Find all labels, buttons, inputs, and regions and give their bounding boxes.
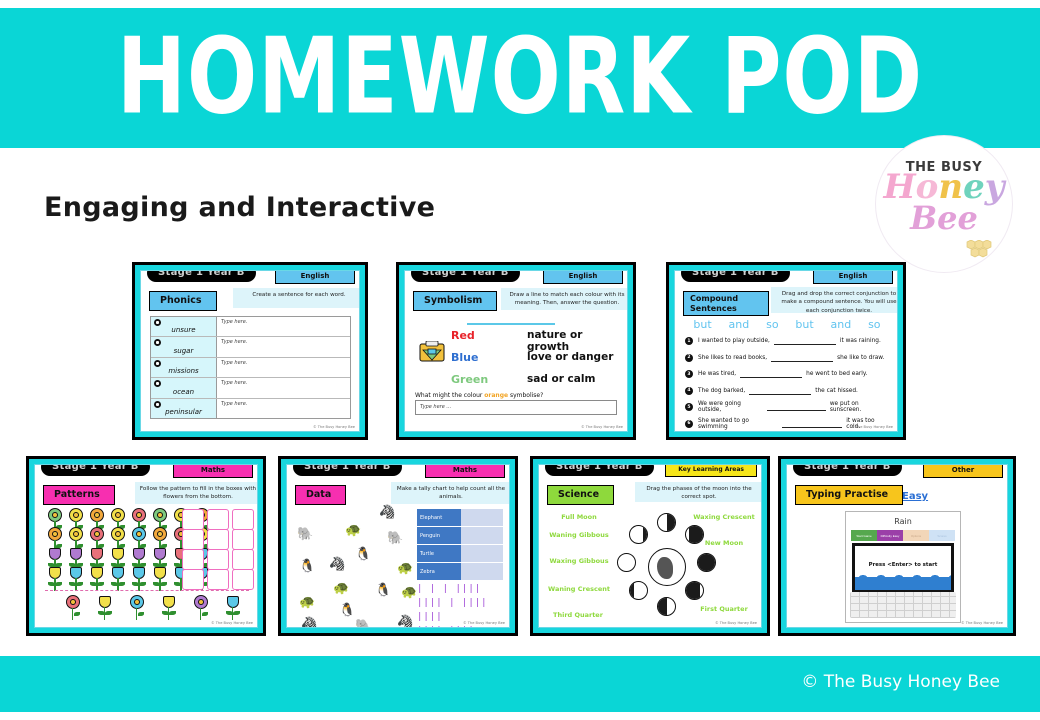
turtle-icon: 🐢 bbox=[345, 523, 361, 536]
speaker-icon[interactable] bbox=[154, 360, 161, 367]
sentence-post: it was raining. bbox=[840, 338, 881, 344]
elephant-icon: 🐘 bbox=[297, 527, 313, 540]
table-row[interactable]: Penguin bbox=[417, 527, 503, 545]
worksheet-card-data[interactable]: Stage 1 Year B Maths Data Make a tally c… bbox=[278, 456, 518, 636]
logo-word-bee: Bee bbox=[876, 202, 1012, 234]
topic-badge-patterns: Patterns bbox=[43, 485, 115, 505]
stage-badge: Stage 1 Year B bbox=[793, 464, 902, 476]
moon-label-third-quarter[interactable]: Third Quarter bbox=[541, 611, 615, 619]
divider bbox=[45, 590, 249, 592]
worksheet-card-phonics[interactable]: Stage 1 Year B English Phonics Create a … bbox=[132, 262, 368, 440]
tab-scores[interactable]: Scores bbox=[929, 530, 955, 541]
instruction-text: Drag the phases of the moon into the cor… bbox=[635, 482, 762, 502]
sentence-pre: The dog barked, bbox=[698, 388, 745, 394]
table-row[interactable]: Elephant bbox=[417, 509, 503, 527]
water-graphic bbox=[855, 577, 951, 590]
book-icon bbox=[419, 341, 445, 363]
moon-slot[interactable] bbox=[657, 597, 676, 616]
tulip-icon[interactable] bbox=[87, 566, 107, 592]
match-line[interactable] bbox=[467, 323, 555, 325]
tab-options[interactable]: Options bbox=[903, 530, 929, 541]
sentence-pre: He was tired, bbox=[698, 371, 736, 377]
drop-blank[interactable] bbox=[740, 370, 802, 378]
drop-box[interactable] bbox=[182, 529, 204, 550]
worksheet-card-typing-practise[interactable]: Stage 1 Year B Other Typing Practise Rai… bbox=[778, 456, 1016, 636]
drop-blank[interactable] bbox=[749, 387, 811, 395]
moon-label-waning-crescent[interactable]: Waning Crescent bbox=[547, 585, 611, 593]
flower-bank bbox=[57, 593, 249, 623]
sentence-post: she like to draw. bbox=[837, 355, 884, 361]
answer-box-row bbox=[182, 549, 254, 569]
item-number: 6 bbox=[685, 420, 693, 428]
zebra-icon: 🦓 bbox=[301, 617, 317, 628]
question-highlight: orange bbox=[484, 392, 508, 399]
credit-text: © The Busy Honey Bee bbox=[313, 425, 355, 429]
elephant-icon: 🐘 bbox=[355, 619, 371, 628]
question-pre: What might the colour bbox=[415, 392, 484, 399]
drop-box[interactable] bbox=[182, 509, 204, 530]
stage-badge: Stage 1 Year B bbox=[147, 270, 256, 282]
drop-box[interactable] bbox=[232, 529, 254, 550]
drop-box[interactable] bbox=[232, 549, 254, 570]
turtle-icon: 🐢 bbox=[333, 581, 349, 594]
footer-copyright: © The Busy Honey Bee bbox=[801, 672, 1000, 692]
placeholder-text: Type here. bbox=[221, 319, 247, 325]
worksheet-card-symbolism[interactable]: Stage 1 Year B English Symbolism Draw a … bbox=[396, 262, 636, 440]
sentence-pre: She wanted to go swimming bbox=[698, 418, 778, 430]
instruction-text: Make a tally chart to help count all the… bbox=[391, 482, 510, 504]
word-cell[interactable]: ocean bbox=[151, 378, 217, 397]
answer-input[interactable]: Type here. bbox=[217, 317, 350, 336]
card-inner: Stage 1 Year B English Symbolism Draw a … bbox=[404, 270, 628, 432]
drop-box[interactable] bbox=[232, 509, 254, 530]
turtle-icon: 🐢 bbox=[397, 561, 413, 574]
sentence-post: we put on sunscreen. bbox=[830, 401, 889, 413]
drop-box[interactable] bbox=[207, 509, 229, 530]
conjunction-bank: but and so but and so bbox=[685, 317, 889, 331]
sentence-pre: We were going outside, bbox=[698, 401, 763, 413]
drop-box[interactable] bbox=[182, 569, 204, 590]
instruction-text: Follow the pattern to fill in the boxes … bbox=[135, 482, 258, 504]
colour-match-area: Red Blue Green nature or growth love or … bbox=[415, 319, 619, 389]
tally-input-cell[interactable] bbox=[461, 527, 503, 545]
drop-box[interactable] bbox=[232, 569, 254, 590]
page-title: HOMEWORK POD bbox=[21, 22, 1019, 132]
flower-icon[interactable] bbox=[127, 595, 147, 621]
placeholder-text: Type here. bbox=[221, 401, 247, 407]
elephant-icon: 🐘 bbox=[387, 531, 403, 544]
answer-box-row bbox=[182, 529, 254, 549]
conjunction-chip[interactable]: but bbox=[693, 318, 711, 331]
drop-box[interactable] bbox=[207, 529, 229, 550]
phonics-table: unsure Type here. sugar Type here. missi… bbox=[150, 316, 351, 419]
word-label: sugar bbox=[151, 347, 216, 355]
topic-badge-data: Data bbox=[295, 485, 346, 505]
sentence-post: he went to bed early. bbox=[806, 371, 867, 377]
game-screen[interactable]: Press <Enter> to start bbox=[852, 543, 954, 593]
honeycomb-icon bbox=[962, 240, 996, 260]
tulip-icon[interactable] bbox=[150, 566, 170, 592]
meaning-love[interactable]: love or danger bbox=[527, 351, 613, 363]
colour-green[interactable]: Green bbox=[451, 373, 488, 386]
answer-input[interactable]: Type here. bbox=[217, 358, 350, 377]
moon-slot[interactable] bbox=[629, 525, 648, 544]
card-inner: Stage 1 Year B Other Typing Practise Rai… bbox=[786, 464, 1008, 628]
worksheet-card-science[interactable]: Stage 1 Year B Key Learning Areas Scienc… bbox=[530, 456, 770, 636]
answer-box-row bbox=[182, 509, 254, 529]
moon-slot[interactable] bbox=[657, 513, 676, 532]
tally-input-cell[interactable] bbox=[461, 545, 503, 563]
credit-text: © The Busy Honey Bee bbox=[851, 425, 893, 429]
tab-start-game[interactable]: Start Game bbox=[851, 530, 877, 541]
row-label: Zebra bbox=[417, 563, 461, 581]
conjunction-chip[interactable]: and bbox=[729, 318, 750, 331]
card-inner: Stage 1 Year B English Compound Sentence… bbox=[674, 270, 898, 432]
worksheet-card-patterns[interactable]: Stage 1 Year B Maths Patterns Follow the… bbox=[26, 456, 266, 636]
kla-badge-maths: Maths bbox=[173, 464, 253, 478]
moon-label-waxing-gibbous[interactable]: Waxing Gibbous bbox=[547, 557, 611, 565]
answer-input[interactable]: Type here ... bbox=[415, 400, 617, 415]
worksheet-card-compound-sentences[interactable]: Stage 1 Year B English Compound Sentence… bbox=[666, 262, 906, 440]
tally-input-cell[interactable] bbox=[461, 509, 503, 527]
topic-badge-science: Science bbox=[547, 485, 614, 505]
row-label: Elephant bbox=[417, 509, 461, 527]
table-row[interactable]: ocean Type here. bbox=[151, 378, 350, 398]
logo-letter-y: y bbox=[985, 167, 1005, 207]
card-inner: Stage 1 Year B Key Learning Areas Scienc… bbox=[538, 464, 762, 628]
table-row[interactable]: sugar Type here. bbox=[151, 337, 350, 357]
credit-text: © The Busy Honey Bee bbox=[211, 621, 253, 625]
tally-input-cell[interactable] bbox=[461, 563, 503, 581]
word-cell[interactable]: missions bbox=[151, 358, 217, 377]
table-row[interactable]: Zebra bbox=[417, 563, 503, 581]
tally-mark-row[interactable]: | | | |||| bbox=[417, 583, 503, 597]
penguin-icon: 🐧 bbox=[355, 547, 371, 560]
conjunction-chip[interactable]: so bbox=[868, 318, 880, 331]
list-item[interactable]: 6 She wanted to go swimming it was too c… bbox=[685, 416, 889, 433]
kla-badge-maths: Maths bbox=[425, 464, 505, 478]
kla-badge-key-learning-areas: Key Learning Areas bbox=[665, 464, 757, 477]
credit-text: © The Busy Honey Bee bbox=[961, 621, 1003, 625]
list-item[interactable]: 1 I wanted to play outside, it was raini… bbox=[685, 333, 889, 350]
drop-box[interactable] bbox=[207, 569, 229, 590]
card-inner: Stage 1 Year B Maths Patterns Follow the… bbox=[34, 464, 258, 628]
tulip-icon[interactable] bbox=[223, 595, 243, 621]
moon-label-waning-gibbous[interactable]: Waning Gibbous bbox=[547, 531, 611, 539]
drop-box[interactable] bbox=[182, 549, 204, 570]
instruction-text: Drag and drop the correct conjunction to… bbox=[771, 287, 898, 313]
speaker-icon[interactable] bbox=[154, 380, 161, 387]
list-item[interactable]: 2 She likes to read books, she like to d… bbox=[685, 350, 889, 367]
turtle-icon: 🐢 bbox=[401, 585, 417, 598]
table-row[interactable]: unsure Type here. bbox=[151, 317, 350, 337]
topic-badge-phonics: Phonics bbox=[149, 291, 217, 311]
speaker-icon[interactable] bbox=[154, 401, 161, 408]
answer-input[interactable]: Type here. bbox=[217, 378, 350, 397]
item-number: 2 bbox=[685, 354, 693, 362]
drop-box[interactable] bbox=[207, 549, 229, 570]
moon-phase-diagram bbox=[615, 515, 719, 619]
speaker-icon[interactable] bbox=[154, 339, 161, 346]
moon-label-full-moon[interactable]: Full Moon bbox=[547, 513, 611, 521]
penguin-icon: 🐧 bbox=[375, 583, 391, 596]
topic-badge-typing-practise: Typing Practise bbox=[795, 485, 903, 505]
app-title: Rain bbox=[846, 517, 960, 526]
kla-badge-english: English bbox=[275, 270, 355, 284]
colour-red[interactable]: Red bbox=[451, 329, 475, 342]
stage-badge: Stage 1 Year B bbox=[411, 270, 520, 282]
flower-icon[interactable] bbox=[191, 595, 211, 621]
word-label: missions bbox=[151, 367, 216, 375]
table-row[interactable]: peninsular Type here. bbox=[151, 399, 350, 418]
kla-badge-english: English bbox=[543, 270, 623, 284]
item-number: 1 bbox=[685, 337, 693, 345]
question-text: What might the colour orange symbolise? bbox=[415, 392, 543, 399]
zebra-icon: 🦓 bbox=[329, 557, 345, 570]
section-subtitle: Engaging and Interactive bbox=[44, 192, 435, 223]
drop-blank[interactable] bbox=[767, 403, 826, 411]
row-label: Turtle bbox=[417, 545, 461, 563]
moon-slot[interactable] bbox=[685, 581, 704, 600]
list-item[interactable]: 3 He was tired, he went to bed early. bbox=[685, 366, 889, 383]
moon-slot[interactable] bbox=[617, 553, 636, 572]
flower-icon[interactable] bbox=[63, 595, 83, 621]
row-label: Penguin bbox=[417, 527, 461, 545]
turtle-icon: 🐢 bbox=[299, 595, 315, 608]
credit-text: © The Busy Honey Bee bbox=[715, 621, 757, 625]
answer-input[interactable]: Type here. bbox=[217, 337, 350, 356]
penguin-icon: 🐧 bbox=[299, 559, 315, 572]
word-label: unsure bbox=[151, 326, 216, 334]
instruction-text: Draw a line to match each colour with it… bbox=[501, 288, 628, 310]
meaning-sad[interactable]: sad or calm bbox=[527, 373, 595, 385]
answer-input[interactable]: Type here. bbox=[217, 399, 350, 418]
tally-mark-row[interactable]: |||| |||| bbox=[417, 625, 503, 628]
tulip-icon[interactable] bbox=[45, 566, 65, 592]
footer-banner: © The Busy Honey Bee bbox=[0, 656, 1040, 712]
tab-difficulty[interactable]: Difficulty Easy bbox=[877, 530, 903, 541]
earth-icon bbox=[648, 548, 686, 586]
press-enter-text: Press <Enter> to start bbox=[855, 562, 951, 568]
conjunction-chip[interactable]: so bbox=[766, 318, 778, 331]
tally-chart: Elephant Penguin Turtle Zebra bbox=[417, 509, 503, 581]
stage-badge: Stage 1 Year B bbox=[41, 464, 150, 476]
app-tab-bar: Start Game Difficulty Easy Options Score… bbox=[851, 530, 955, 541]
placeholder-text: Type here. bbox=[221, 339, 247, 345]
kla-badge-english: English bbox=[813, 270, 893, 284]
placeholder-text: Type here ... bbox=[420, 404, 451, 410]
drop-blank[interactable] bbox=[774, 337, 836, 345]
drop-blank[interactable] bbox=[782, 420, 842, 428]
moon-slot[interactable] bbox=[685, 525, 704, 544]
item-number: 5 bbox=[685, 403, 693, 411]
keyboard-graphic bbox=[850, 592, 956, 618]
zebra-icon: 🦓 bbox=[397, 615, 413, 628]
header-banner: HOMEWORK POD bbox=[0, 8, 1040, 148]
item-number: 4 bbox=[685, 387, 693, 395]
tulip-icon[interactable] bbox=[159, 595, 179, 621]
penguin-icon: 🐧 bbox=[339, 603, 355, 616]
sentence-list: 1 I wanted to play outside, it was raini… bbox=[685, 333, 889, 421]
placeholder-text: Type here. bbox=[221, 360, 247, 366]
tulip-icon[interactable] bbox=[108, 566, 128, 592]
word-label: ocean bbox=[151, 388, 216, 396]
stage-badge: Stage 1 Year B bbox=[293, 464, 402, 476]
meaning-nature[interactable]: nature or growth bbox=[527, 329, 619, 353]
conjunction-chip[interactable]: but bbox=[795, 318, 813, 331]
word-cell[interactable]: peninsular bbox=[151, 399, 217, 418]
sentence-post: the cat hissed. bbox=[815, 388, 858, 394]
topic-badge-compound-sentences: Compound Sentences bbox=[683, 291, 769, 316]
conjunction-chip[interactable]: and bbox=[831, 318, 852, 331]
drop-blank[interactable] bbox=[771, 354, 833, 362]
question-post: symbolise? bbox=[508, 392, 543, 399]
stage-badge: Stage 1 Year B bbox=[545, 464, 654, 476]
list-item[interactable]: 4 The dog barked, the cat hissed. bbox=[685, 383, 889, 400]
card-inner: Stage 1 Year B English Phonics Create a … bbox=[140, 270, 360, 432]
topic-badge-symbolism: Symbolism bbox=[413, 291, 497, 311]
speaker-icon[interactable] bbox=[154, 319, 161, 326]
card-inner: Stage 1 Year B Maths Data Make a tally c… bbox=[286, 464, 510, 628]
table-row[interactable]: missions Type here. bbox=[151, 358, 350, 378]
moon-slot[interactable] bbox=[697, 553, 716, 572]
sentence-pre: I wanted to play outside, bbox=[698, 338, 770, 344]
item-number: 3 bbox=[685, 370, 693, 378]
sentence-pre: She likes to read books, bbox=[698, 355, 767, 361]
slide-page: HOMEWORK POD THE BUSY Honey Bee Engaging… bbox=[0, 0, 1040, 720]
credit-text: © The Busy Honey Bee bbox=[463, 621, 505, 625]
table-row[interactable]: Turtle bbox=[417, 545, 503, 563]
tulip-icon[interactable] bbox=[66, 566, 86, 592]
tulip-icon[interactable] bbox=[129, 566, 149, 592]
laptop-mockup: Rain Start Game Difficulty Easy Options … bbox=[845, 511, 961, 623]
tulip-icon[interactable] bbox=[95, 595, 115, 621]
list-item[interactable]: 5 We were going outside, we put on sunsc… bbox=[685, 399, 889, 416]
colour-blue[interactable]: Blue bbox=[451, 351, 478, 364]
answer-box-grid bbox=[182, 509, 254, 589]
word-cell[interactable]: unsure bbox=[151, 317, 217, 336]
credit-text: © The Busy Honey Bee bbox=[581, 425, 623, 429]
placeholder-text: Type here. bbox=[221, 380, 247, 386]
moon-slot[interactable] bbox=[629, 581, 648, 600]
kla-badge-other: Other bbox=[923, 464, 1003, 478]
answer-box-row bbox=[182, 569, 254, 589]
word-label: peninsular bbox=[151, 408, 216, 416]
zebra-icon: 🦓 bbox=[379, 505, 395, 518]
word-cell[interactable]: sugar bbox=[151, 337, 217, 356]
stage-badge: Stage 1 Year B bbox=[681, 270, 790, 282]
instruction-text: Create a sentence for each word. bbox=[233, 288, 360, 308]
brand-logo: THE BUSY Honey Bee bbox=[876, 136, 1012, 272]
